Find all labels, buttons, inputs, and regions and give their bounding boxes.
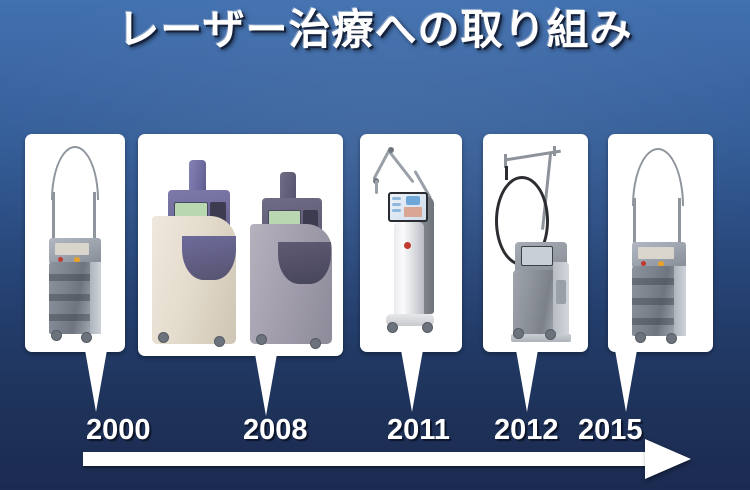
machine-side-panel-2015: [674, 266, 686, 336]
articulated-arm-stem2-icon: [52, 192, 55, 240]
console-cream-caster-right: [214, 336, 225, 347]
machine-band-2: [49, 294, 90, 301]
cart-vent-panel: [556, 280, 566, 304]
machine-band-2015-3: [632, 318, 674, 325]
caster-wheel-2015-left: [635, 332, 646, 343]
photo-card-2011[interactable]: [360, 134, 462, 352]
screen-menu-1: [392, 197, 401, 200]
timeline-arrow-head: [645, 439, 691, 479]
arm-segment-upper: [388, 150, 415, 183]
articulated-arm-stem-icon: [93, 192, 96, 244]
caster-wheel-2015-right: [666, 333, 677, 344]
year-label-2000: 2000: [86, 414, 151, 447]
laser-machine-2011-image: [360, 134, 462, 352]
year-label-2008: 2008: [243, 414, 308, 447]
console-cream: [152, 160, 242, 350]
card-pointer-2011: [401, 350, 423, 412]
articulated-arm-loop-2015-icon: [632, 148, 684, 206]
arm-segment-left: [372, 149, 391, 180]
laser-machine-2012-image: [483, 134, 588, 352]
card-pointer-2000: [85, 350, 107, 412]
control-panel-2015: [638, 247, 674, 259]
card-pointer-2012: [516, 350, 538, 412]
photo-card-2000[interactable]: [25, 134, 125, 352]
photo-card-2015[interactable]: [608, 134, 713, 352]
pedestal-column: [394, 222, 424, 318]
cart-machine-side: [553, 262, 569, 338]
year-label-2012: 2012: [494, 414, 559, 447]
cart-screen: [521, 246, 553, 266]
pedestal-caster-left: [387, 322, 398, 333]
machine-band-2015-2: [632, 298, 674, 305]
console-gray-caster-left: [256, 334, 267, 345]
year-label-2015: 2015: [578, 414, 643, 447]
machine-side-panel: [90, 262, 101, 334]
machine-body: [49, 262, 101, 334]
laser-machine-2008-image: [138, 134, 343, 356]
overhead-arm-right-post: [553, 146, 556, 156]
screen-menu-2: [392, 203, 401, 206]
console-gray-caster-right: [310, 338, 321, 349]
machine-band-1: [49, 274, 90, 281]
console-gray: [250, 172, 338, 352]
caster-wheel-right: [81, 332, 92, 343]
machine-band-3: [49, 314, 90, 321]
machine-head-2015: [632, 242, 686, 268]
fiber-cable-top: [505, 166, 508, 180]
articulated-arm-stem2-2015-icon: [633, 198, 636, 244]
photo-card-2008[interactable]: [138, 134, 343, 356]
timeline-arrow-shaft: [83, 452, 648, 466]
cart-caster-right: [545, 329, 556, 340]
screen-menu-3: [392, 209, 401, 212]
arm-handpiece: [375, 180, 378, 194]
arm-joint-top: [388, 147, 394, 153]
caster-wheel-left: [51, 330, 62, 341]
machine-band-2015-1: [632, 278, 674, 285]
card-pointer-2008: [255, 354, 277, 416]
slide-title: レーザー治療への取り組み: [0, 2, 750, 58]
photo-card-2012[interactable]: [483, 134, 588, 352]
pedestal-caster-right: [422, 322, 433, 333]
touchscreen-display: [390, 194, 426, 220]
cart-caster-left: [513, 328, 524, 339]
control-panel: [55, 243, 89, 255]
touchscreen: [388, 192, 428, 222]
articulated-arm-loop-icon: [51, 146, 99, 200]
console-cream-cylinder: [189, 160, 206, 194]
card-pointer-2015: [615, 350, 637, 412]
console-cream-caster-left: [158, 332, 169, 343]
laser-machine-2000-image: [25, 134, 125, 352]
pedestal-red-button-icon: [404, 242, 411, 249]
screen-graphic-blue: [406, 196, 420, 205]
laser-machine-2015-image: [608, 134, 713, 352]
machine-head: [49, 238, 101, 264]
year-label-2011: 2011: [387, 414, 450, 447]
screen-graphic-skin: [404, 207, 422, 217]
articulated-arm-stem-2015-icon: [678, 198, 681, 248]
machine-body-2015: [632, 266, 686, 336]
slide-root: レーザー治療への取り組み: [0, 0, 750, 490]
